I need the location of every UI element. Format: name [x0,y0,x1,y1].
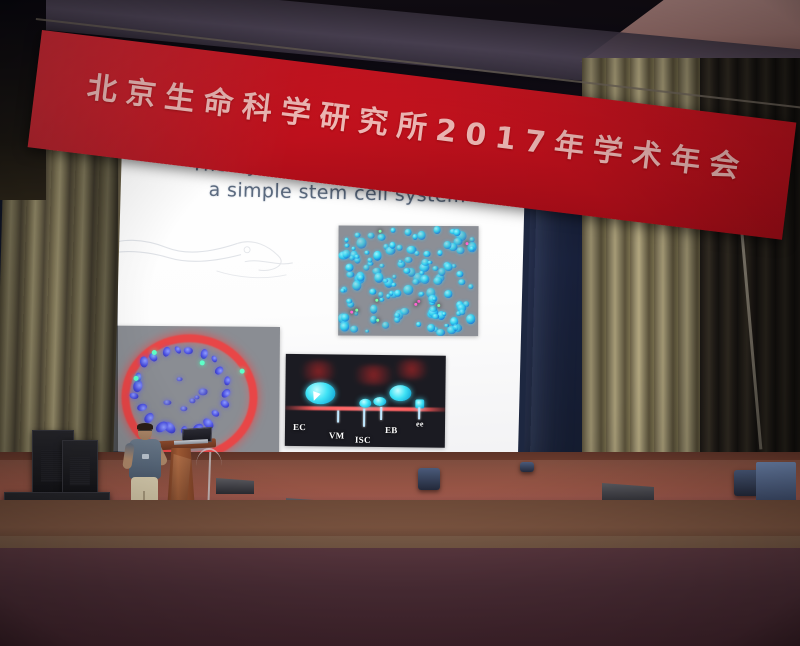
moving-head-light-center [418,468,440,490]
nucleus [420,292,425,296]
nucleus [456,247,464,254]
arrow-vm [337,410,339,422]
marker-speck [378,230,381,233]
nucleus [341,314,349,322]
nucleus [420,275,430,284]
nucleus [466,314,475,323]
nucleus [405,257,413,263]
nucleus [405,229,412,236]
epi-cell-eb [373,397,386,406]
epi-cell [389,385,411,401]
presenter-laptop [174,428,210,444]
green-marker [240,369,245,374]
nucleus [436,329,445,336]
nucleus [453,324,459,331]
marker-speck [375,299,378,302]
conference-photo: The fly midgut epithelium: a simple stem… [0,0,800,646]
nucleus [363,265,369,271]
label-isc: ISC [355,435,371,445]
light-road-case [756,462,796,502]
nucleus [396,245,403,250]
nucleus [401,308,410,315]
nucleus-interior [176,377,182,381]
nucleus-interior [198,389,207,395]
nucleus [365,329,369,333]
nucleus [351,246,355,250]
green-marker [152,350,157,355]
nucleus [347,271,354,277]
arrow-isc [363,409,365,427]
nucleus [444,324,448,327]
nucleus [458,279,465,285]
shirt-logo [142,454,149,459]
nucleus [352,281,361,291]
nucleus-interior [180,406,187,411]
nucleus [417,231,426,240]
nucleus [444,290,453,297]
nucleus [357,274,364,281]
marker-speck [417,300,420,303]
nucleus [442,312,447,316]
nucleus [355,312,359,316]
nucleus [395,290,402,297]
label-vm: VM [329,430,345,440]
panel-nuclei-field [338,226,478,337]
nucleus [432,314,438,319]
nucleus [367,258,372,263]
nucleus [346,298,352,303]
nucleus [468,284,474,289]
nucleus [391,228,396,233]
nucleus [378,233,386,240]
nucleus [344,243,349,248]
marker-speck [376,319,379,322]
nucleus [437,250,442,255]
nucleus [433,277,442,285]
nucleus [344,237,349,242]
nucleus [454,229,460,236]
nucleus [341,288,345,292]
nucleus [413,279,420,285]
nucleus [389,242,395,249]
nucleus [379,297,385,302]
nucleus [433,226,440,234]
stage-fixture [520,462,534,472]
marker-speck [437,304,440,307]
green-marker [134,376,139,381]
nucleus [469,238,474,243]
green-marker [200,360,205,365]
nucleus [429,306,437,312]
nucleus [355,254,360,259]
nucleus [350,326,358,333]
presenter-glasses [138,430,152,434]
nucleus [391,283,396,287]
arrow-eb [380,407,382,420]
marker-speck [355,308,358,311]
audience-area [0,548,800,646]
nucleus [375,273,383,283]
nucleus [404,285,414,295]
nucleus [457,271,464,278]
marker-speck [351,310,354,313]
arrow-ee [418,407,420,419]
fly-gut-schematic [96,218,308,293]
nucleus [415,251,420,256]
presenter-hair [137,423,153,430]
speaker-grill [70,457,90,485]
nucleus [369,289,376,296]
marker-speck [414,303,417,306]
nucleus [345,264,354,271]
epi-cell-isc [359,399,371,408]
nucleus [417,322,422,326]
label-eb: EB [385,425,398,435]
panel-epithelium-labeled: EC VM ISC EB ee [285,354,446,448]
label-ec: EC [293,422,306,432]
nucleus [389,290,393,295]
nucleus [459,309,465,315]
nucleus [424,251,431,256]
epi-haze [296,360,342,383]
nucleus [378,292,384,297]
epi-haze [390,359,434,379]
nucleus [368,233,375,239]
nucleus [394,312,400,317]
nucleus [403,268,410,274]
nucleus [382,321,390,328]
label-ee: ee [416,419,424,428]
nucleus [357,238,367,248]
nucleus [340,322,349,331]
nucleus [364,250,369,255]
nucleus [428,261,433,265]
nucleus [392,274,396,279]
nucleus [373,251,381,260]
nucleus [432,297,436,301]
nucleus [370,305,377,313]
nucleus [380,264,385,268]
nucleus [444,263,453,271]
